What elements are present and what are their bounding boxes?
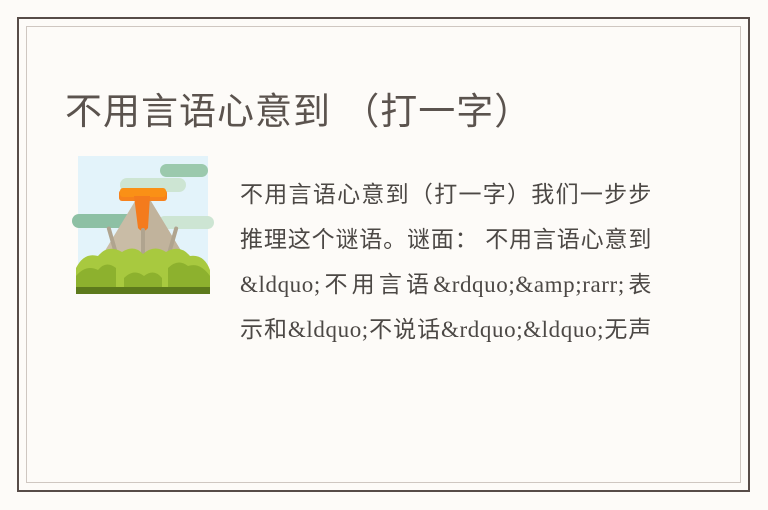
page-border-outer: 不用言语心意到 （打一字） <box>17 17 750 492</box>
article-body: 不用言语心意到（打一字）我们一步步推理这个谜语。谜面： 不用言语心意到&ldqu… <box>65 149 712 472</box>
article-paragraph: 不用言语心意到（打一字）我们一步步推理这个谜语。谜面： 不用言语心意到&ldqu… <box>240 172 652 432</box>
volcano-illustration-icon <box>72 156 214 306</box>
page-title: 不用言语心意到 （打一字） <box>65 89 710 135</box>
page-border-inner: 不用言语心意到 （打一字） <box>26 26 741 483</box>
